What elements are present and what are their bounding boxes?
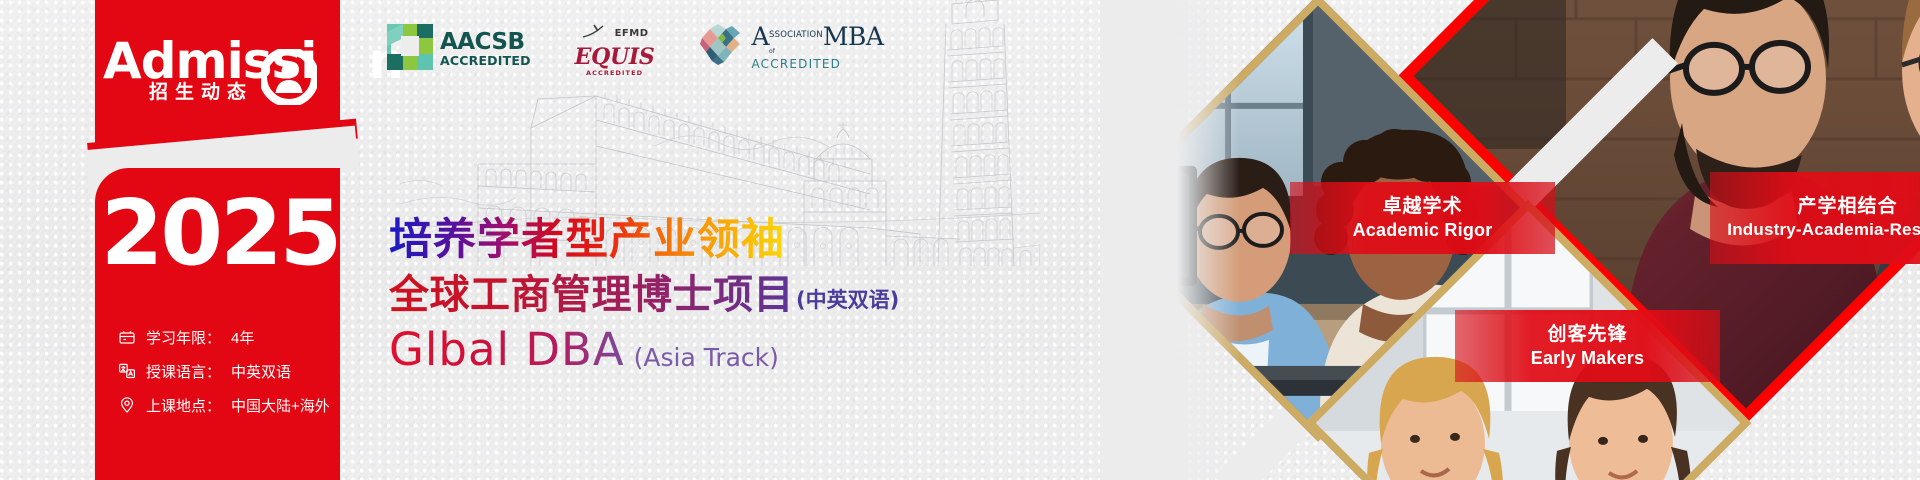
info-value-duration: 4年 xyxy=(231,327,254,348)
info-label-language: 授课语言： xyxy=(146,361,221,382)
info-row-location: 上课地点：中国大陆+海外 xyxy=(118,388,348,422)
aacsb-square-icon xyxy=(387,24,433,75)
program-title-en-row: Glbal DBA (Asia Track) xyxy=(389,325,779,375)
admission-logo: Admissin 招生动态 xyxy=(103,33,343,105)
efmd-swoosh-icon xyxy=(581,24,611,44)
academic-rigor-caption: 卓越学术 Academic Rigor xyxy=(1290,182,1555,254)
left-red-panel: Admissin 招生动态 2025 xyxy=(0,0,350,480)
aacsb-sub-label: ACCREDITED xyxy=(440,55,531,68)
efmd-label: EFMD xyxy=(615,29,649,39)
amba-diamond-icon xyxy=(698,24,744,71)
info-row-language: 授课语言：中英双语 xyxy=(118,354,348,388)
program-title-en: Glbal DBA xyxy=(389,325,625,375)
amba-sub-label: ACCREDITED xyxy=(751,58,883,70)
program-title-cn: 全球工商管理博士项目 xyxy=(389,272,794,318)
year-2025: 2025 xyxy=(100,186,340,282)
industry-academia-research-caption-cn: 产学相结合 xyxy=(1797,196,1897,217)
program-title-bilingual-note: (中英双语) xyxy=(796,284,899,318)
info-row-duration: 学习年限：4年 xyxy=(118,320,348,354)
equis-label: EQUIS xyxy=(575,46,655,68)
collage-left-fade xyxy=(1100,0,1240,480)
program-info-list: 学习年限：4年 授课语言：中英双语 xyxy=(118,320,348,422)
info-label-location: 上课地点： xyxy=(146,395,221,416)
accreditation-logo-row: AACSB ACCREDITED EFMD EQUIS ACCREDITED xyxy=(387,24,883,77)
early-makers-caption: 创客先锋 Early Makers xyxy=(1455,310,1720,382)
equis-logo: EFMD EQUIS ACCREDITED xyxy=(575,24,655,77)
aacsb-logo: AACSB ACCREDITED xyxy=(387,24,531,75)
early-makers-caption-en: Early Makers xyxy=(1531,348,1644,368)
industry-academia-research-caption-en: Industry-Academia-Research xyxy=(1727,220,1920,240)
info-label-duration: 学习年限： xyxy=(146,327,221,348)
person-circle-icon xyxy=(261,49,317,105)
calendar-icon xyxy=(118,328,136,346)
academic-rigor-caption-cn: 卓越学术 xyxy=(1382,196,1462,217)
aacsb-label: AACSB xyxy=(440,31,531,54)
info-value-location: 中国大陆+海外 xyxy=(231,395,330,416)
amba-label: MBA xyxy=(823,25,884,49)
program-track-label: (Asia Track) xyxy=(634,343,779,375)
equis-sub-label: ACCREDITED xyxy=(575,70,655,77)
academic-rigor-caption-en: Academic Rigor xyxy=(1353,220,1493,240)
program-title-cn-row: 全球工商管理博士项目 (中英双语) xyxy=(389,272,899,318)
tagline-headline: 培养学者型产业领袖 xyxy=(389,215,785,265)
location-icon xyxy=(118,396,136,414)
amba-logo: A SSOCIATION of MBA ACCREDITED xyxy=(698,24,883,71)
amba-association-label: SSOCIATION xyxy=(769,30,823,40)
language-icon xyxy=(118,362,136,380)
amba-of-label: of xyxy=(769,48,775,55)
admission-logo-chinese: 招生动态 xyxy=(149,77,253,104)
amba-initial: A xyxy=(751,25,769,49)
info-value-language: 中英双语 xyxy=(231,361,291,382)
photo-collage: 卓越学术 Academic Rigor 产学相结合 Industry-Acade… xyxy=(1100,0,1920,480)
admission-banner: Admissin 招生动态 2025 xyxy=(0,0,1920,480)
early-makers-caption-cn: 创客先锋 xyxy=(1547,324,1627,345)
industry-academia-research-caption: 产学相结合 Industry-Academia-Research xyxy=(1710,172,1920,264)
